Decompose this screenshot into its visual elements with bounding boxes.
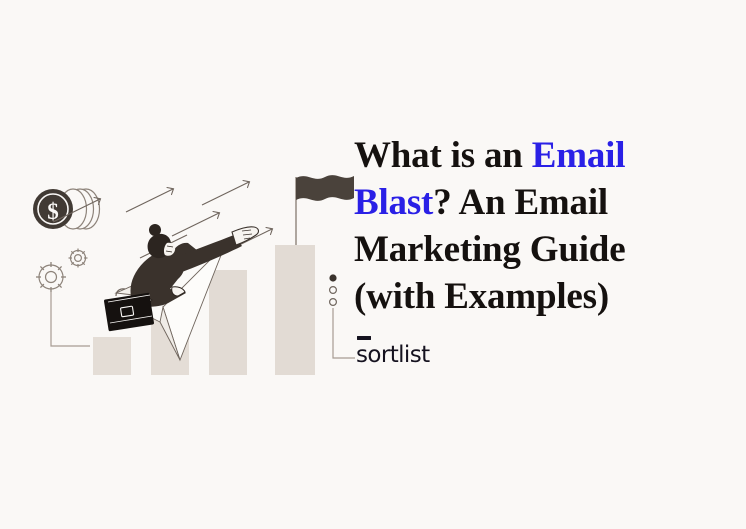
progress-dots-group xyxy=(329,274,355,358)
progress-dot-empty-2 xyxy=(330,299,337,306)
illustration-svg: $ xyxy=(20,150,370,400)
briefcase-icon xyxy=(104,289,154,332)
sortlist-logo[interactable]: sortlist xyxy=(356,336,430,367)
growth-arrow-3 xyxy=(202,181,250,206)
sortlist-logo-wordmark: sortlist xyxy=(356,343,430,367)
hero-banner: $ xyxy=(0,0,746,529)
headline-part-1: What is an xyxy=(354,135,532,176)
goal-flag-icon xyxy=(296,175,354,245)
dollar-coin-stack-icon: $ xyxy=(33,189,100,229)
headline-accent-blast: Blast xyxy=(354,182,433,223)
page-title: What is an Email Blast? An Email Marketi… xyxy=(354,132,694,320)
gear-large-icon xyxy=(36,262,66,292)
chart-bar-1 xyxy=(93,337,131,375)
chart-bar-3 xyxy=(209,270,247,375)
bracket-connector-left xyxy=(51,292,90,346)
growth-arrow-4 xyxy=(172,212,220,237)
gear-pair-icon xyxy=(36,249,88,293)
growth-arrow-2 xyxy=(126,188,174,213)
business-growth-illustration: $ xyxy=(20,150,370,400)
chart-bar-4 xyxy=(275,245,315,375)
headline-block: What is an Email Blast? An Email Marketi… xyxy=(354,132,694,320)
progress-dot-empty-1 xyxy=(330,287,337,294)
progress-dot-filled xyxy=(329,274,336,281)
sortlist-logo-dash-icon xyxy=(357,336,371,340)
bracket-connector-right xyxy=(333,308,355,358)
headline-accent-email: Email xyxy=(532,135,626,176)
gear-small-icon xyxy=(69,249,88,268)
